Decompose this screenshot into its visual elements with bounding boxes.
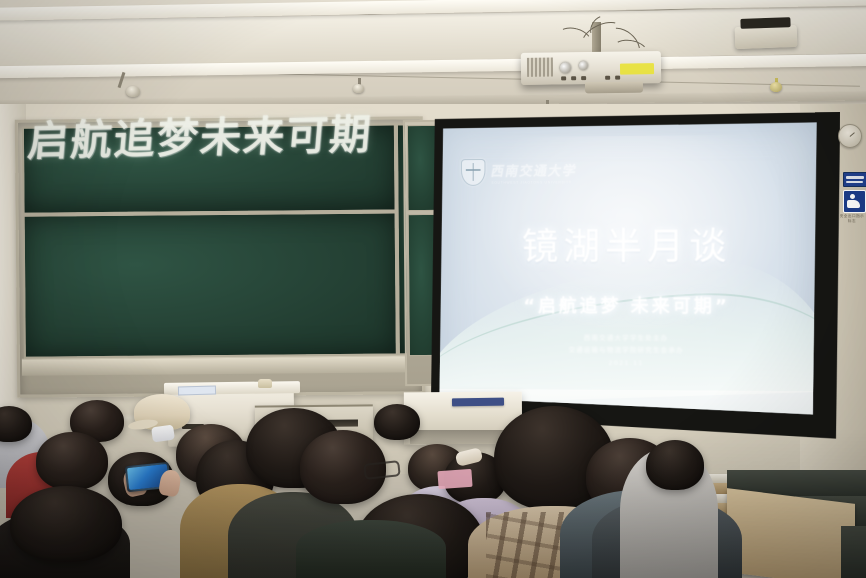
- slide-credit-line-3: 2021.11: [439, 356, 816, 370]
- seating-step: [841, 526, 866, 578]
- accessibility-sign: [843, 190, 866, 213]
- projector-button[interactable]: [605, 76, 610, 80]
- slide-subtitle: “启航追梦 未来可期”: [439, 292, 816, 319]
- blackboard-chalk-text: 启航追梦未来可期: [26, 115, 360, 163]
- sign-caption: 安全出口指示标志: [838, 214, 866, 224]
- audience-cap: [134, 394, 190, 430]
- projector-focus-ring: [579, 61, 588, 70]
- audience-head: [646, 440, 704, 490]
- console-paper: [178, 386, 216, 396]
- projector-body: [521, 51, 661, 85]
- slide-credits: 西南交通大学学生处主办 交通运输与物流学院研究生会承办 2021.11: [439, 331, 816, 370]
- slide-title: 镜湖半月谈: [439, 215, 816, 270]
- wooden-desk-surface: [727, 488, 855, 578]
- ceiling-sensor-dome: [353, 84, 364, 93]
- audience-head: [36, 432, 108, 490]
- paper-sign: [437, 469, 472, 489]
- chalk-tray: [22, 355, 418, 375]
- projector-button[interactable]: [615, 76, 620, 80]
- projector-vent: [527, 58, 553, 77]
- blue-info-sign: [843, 172, 866, 187]
- console-cup: [258, 379, 272, 388]
- projector-button[interactable]: [561, 76, 566, 80]
- audience-head: [374, 404, 420, 440]
- university-shield-icon: [461, 159, 486, 186]
- screen-surface: 西南交通大学 SOUTHWEST JIAOTONG UNIVERSITY 镜湖半…: [439, 122, 816, 417]
- side-desk-document: [452, 398, 504, 407]
- ceiling-sensor-dome: [126, 86, 140, 97]
- audience-head-foreground: [10, 486, 122, 562]
- projector-bracket: [585, 82, 643, 94]
- wall-clock: [838, 124, 862, 148]
- lecture-hall-photo: 启航追梦未来可期 西南交通大学 SOUTHWEST JIAOTONG UNIVE…: [0, 0, 866, 578]
- audience-shoulders: [296, 520, 446, 578]
- logo-english-name: SOUTHWEST JIAOTONG UNIVERSITY: [491, 180, 577, 184]
- face-mask: [151, 425, 175, 443]
- ceiling-speaker: [735, 25, 798, 49]
- projector-button[interactable]: [581, 76, 586, 80]
- university-logo: 西南交通大学 SOUTHWEST JIAOTONG UNIVERSITY: [461, 158, 577, 186]
- projector-button[interactable]: [571, 76, 576, 80]
- blackboard-main-panel: [23, 211, 398, 358]
- projector-label-sticker: [620, 63, 654, 74]
- ceiling-sensor-dome: [770, 82, 782, 92]
- eyeglasses: [363, 460, 400, 480]
- logo-chinese-name: 西南交通大学: [490, 160, 579, 179]
- projector-lens: [560, 62, 571, 73]
